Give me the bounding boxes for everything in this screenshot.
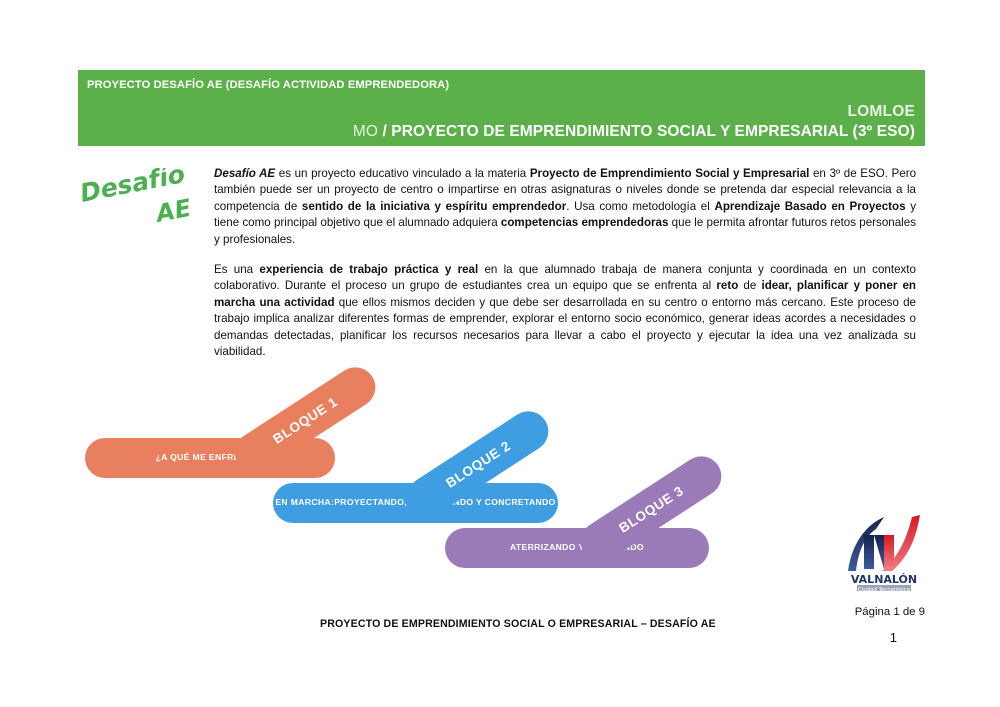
- header-banner: PROYECTO DESAFÍO AE (DESAFÍO ACTIVIDAD E…: [78, 70, 925, 146]
- valnalon-tagline: Ciudad Tecnológica: [858, 586, 910, 591]
- valnalon-logo: VALNALÓN Ciudad Tecnológica: [840, 513, 928, 591]
- paragraph-1: Desafío AE es un proyecto educativo vinc…: [214, 166, 916, 248]
- logo-word-ae: AE: [152, 194, 194, 229]
- header-title-main: / PROYECTO DE EMPRENDIMIENTO SOCIAL Y EM…: [382, 123, 915, 140]
- p1-run-1: es un proyecto educativo vinculado a la …: [275, 167, 530, 180]
- valnalon-bar-diagonal: [874, 535, 884, 569]
- header-lomloe-label: LOMLOE: [87, 102, 915, 121]
- p1-run-8: competencias emprendedoras: [501, 216, 669, 229]
- valnalon-bar-right: [884, 535, 894, 569]
- header-title-prefix: MO: [353, 123, 383, 140]
- valnalon-wordmark: VALNALÓN: [851, 573, 917, 586]
- p1-run-2: Proyecto de Emprendimiento Social y Empr…: [530, 167, 810, 180]
- desafio-ae-logo: Desafío AE: [80, 168, 208, 230]
- p2-run-0: Es una: [214, 263, 259, 276]
- p2-run-4: de: [738, 279, 761, 292]
- page-of-indicator: Página 1 de 9: [855, 606, 925, 618]
- bloque-3-description: ATERRIZANDO Y EVALUANDO: [445, 528, 709, 568]
- document-page: PROYECTO DESAFÍO AE (DESAFÍO ACTIVIDAD E…: [0, 0, 1000, 707]
- page-title: MO / PROYECTO DE EMPRENDIMIENTO SOCIAL Y…: [87, 121, 915, 142]
- p1-run-4: sentido de la iniciativa y espíritu empr…: [302, 200, 566, 213]
- p1-run-6: Aprendizaje Basado en Proyectos: [714, 200, 905, 213]
- p2-run-1: experiencia de trabajo práctica y real: [259, 263, 478, 276]
- valnalon-bar-left: [864, 535, 874, 569]
- page-number: 1: [890, 630, 897, 645]
- header-kicker: PROYECTO DESAFÍO AE (DESAFÍO ACTIVIDAD E…: [87, 78, 915, 92]
- bloques-proceso-diagram: ¿A QUÉ ME ENFRENTO? BLOQUE 1 EN MARCHA: …: [85, 395, 745, 565]
- p1-run-5: . Usa como metodología el: [566, 200, 714, 213]
- paragraph-2: Es una experiencia de trabajo práctica y…: [214, 262, 916, 360]
- body-text: Desafío AE es un proyecto educativo vinc…: [214, 166, 916, 360]
- header-right-block: LOMLOE MO / PROYECTO DE EMPRENDIMIENTO S…: [87, 102, 915, 142]
- bloque-2-description-line-1: EN MARCHA:: [275, 497, 334, 509]
- p2-run-3: reto: [716, 279, 738, 292]
- p1-run-0: Desafío AE: [214, 167, 275, 180]
- footer-title: PROYECTO DE EMPRENDIMIENTO SOCIAL O EMPR…: [320, 618, 716, 630]
